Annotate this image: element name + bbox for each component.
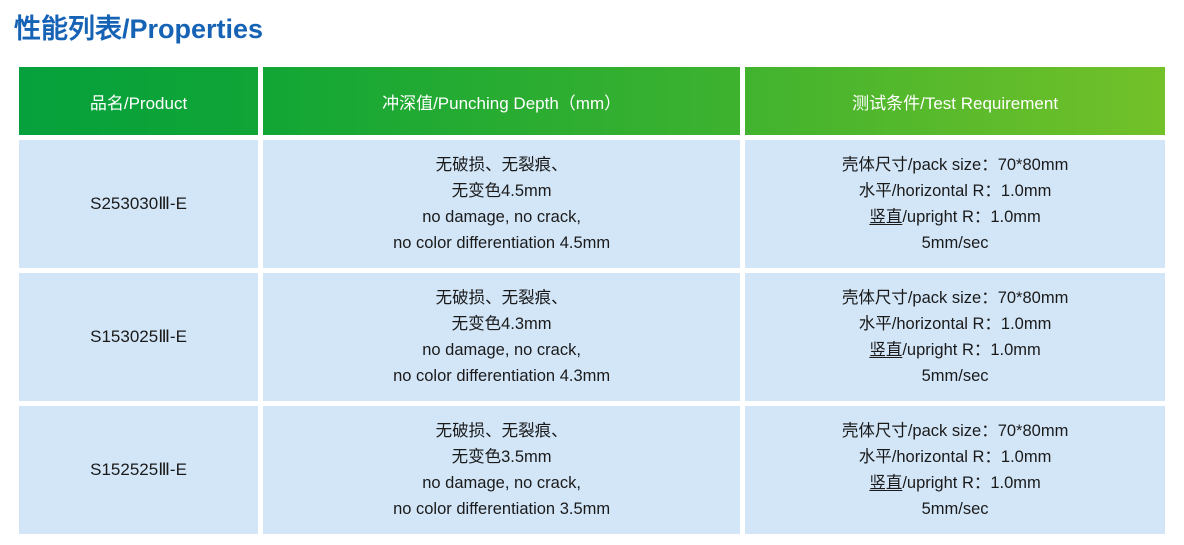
cell-punching-depth: 无破损、无裂痕、 无变色3.5mm no damage, no crack, n… xyxy=(263,406,740,534)
test-req-line-upright: 竖直/upright R：1.0mm xyxy=(751,470,1159,496)
test-req-upright-label: 竖直 xyxy=(869,208,902,226)
test-req-upright-value: /upright R：1.0mm xyxy=(902,208,1040,226)
test-req-line-pack-size: 壳体尺寸/pack size：70*80mm xyxy=(751,152,1159,178)
test-req-line-upright: 竖直/upright R：1.0mm xyxy=(751,337,1159,363)
test-req-upright-value: /upright R：1.0mm xyxy=(902,341,1040,359)
table-header-row: 品名/Product 冲深值/Punching Depth（mm） 测试条件/T… xyxy=(19,67,1165,135)
test-req-upright-label: 竖直 xyxy=(869,341,902,359)
table-header: 品名/Product 冲深值/Punching Depth（mm） 测试条件/T… xyxy=(19,67,1165,135)
test-req-line-pack-size: 壳体尺寸/pack size：70*80mm xyxy=(751,285,1159,311)
test-req-line-pack-size: 壳体尺寸/pack size：70*80mm xyxy=(751,418,1159,444)
test-req-line-speed: 5mm/sec xyxy=(751,496,1159,522)
properties-table: 品名/Product 冲深值/Punching Depth（mm） 测试条件/T… xyxy=(14,62,1170,539)
column-header-test-requirement: 测试条件/Test Requirement xyxy=(745,67,1165,135)
cell-test-requirement: 壳体尺寸/pack size：70*80mm 水平/horizontal R：1… xyxy=(745,406,1165,534)
test-req-upright-label: 竖直 xyxy=(869,474,902,492)
cell-punching-depth: 无破损、无裂痕、 无变色4.3mm no damage, no crack, n… xyxy=(263,273,740,401)
test-req-line-horizontal: 水平/horizontal R：1.0mm xyxy=(751,311,1159,337)
test-req-line-speed: 5mm/sec xyxy=(751,230,1159,256)
test-req-line-speed: 5mm/sec xyxy=(751,363,1159,389)
cell-test-requirement: 壳体尺寸/pack size：70*80mm 水平/horizontal R：1… xyxy=(745,140,1165,268)
column-header-product: 品名/Product xyxy=(19,67,258,135)
table-row: S153025Ⅲ-E 无破损、无裂痕、 无变色4.3mm no damage, … xyxy=(19,273,1165,401)
cell-product: S253030Ⅲ-E xyxy=(19,140,258,268)
cell-product: S153025Ⅲ-E xyxy=(19,273,258,401)
cell-punching-depth: 无破损、无裂痕、 无变色4.5mm no damage, no crack, n… xyxy=(263,140,740,268)
cell-product: S152525Ⅲ-E xyxy=(19,406,258,534)
table-row: S152525Ⅲ-E 无破损、无裂痕、 无变色3.5mm no damage, … xyxy=(19,406,1165,534)
page-title: 性能列表/Properties xyxy=(14,10,263,48)
table-body: S253030Ⅲ-E 无破损、无裂痕、 无变色4.5mm no damage, … xyxy=(19,140,1165,534)
test-req-line-horizontal: 水平/horizontal R：1.0mm xyxy=(751,444,1159,470)
test-req-line-horizontal: 水平/horizontal R：1.0mm xyxy=(751,178,1159,204)
cell-test-requirement: 壳体尺寸/pack size：70*80mm 水平/horizontal R：1… xyxy=(745,273,1165,401)
properties-page: 性能列表/Properties 品名/Product 冲深值/Punching … xyxy=(0,0,1184,545)
table-row: S253030Ⅲ-E 无破损、无裂痕、 无变色4.5mm no damage, … xyxy=(19,140,1165,268)
column-header-punching-depth: 冲深值/Punching Depth（mm） xyxy=(263,67,740,135)
test-req-line-upright: 竖直/upright R：1.0mm xyxy=(751,204,1159,230)
test-req-upright-value: /upright R：1.0mm xyxy=(902,474,1040,492)
